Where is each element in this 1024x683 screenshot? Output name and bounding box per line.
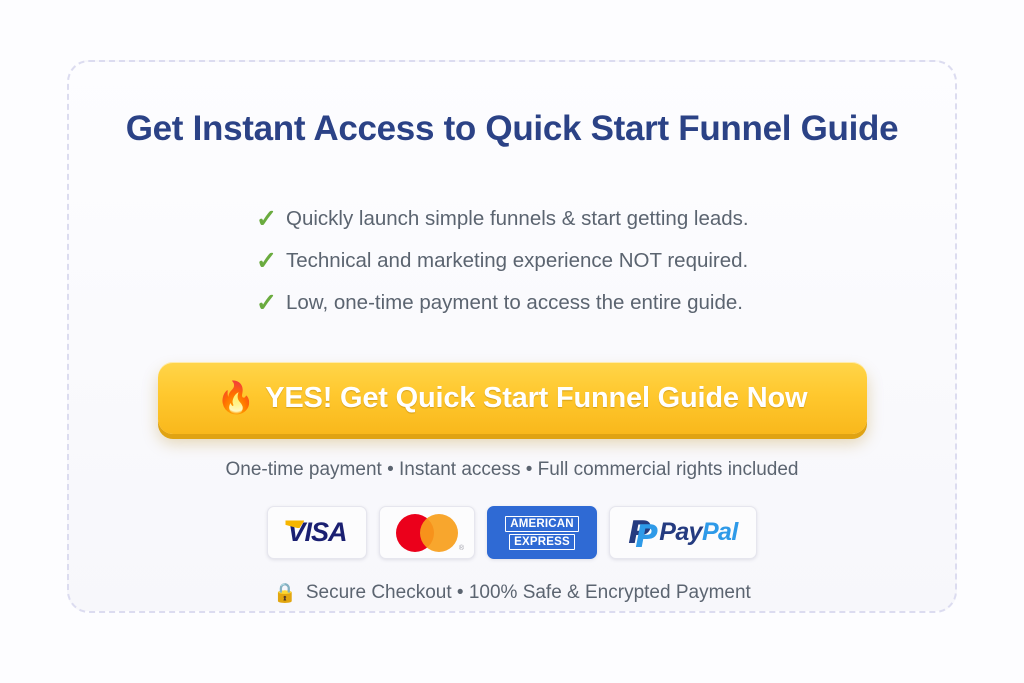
mastercard-logo-icon: ® [396,514,458,552]
benefit-text: Quickly launch simple funnels & start ge… [286,207,749,231]
benefit-text: Low, one-time payment to access the enti… [286,291,743,315]
paypal-word-pal: Pal [702,518,738,546]
paypal-wordmark: PayPal [659,518,737,547]
cta-wrapper: 🔥 YES! Get Quick Start Funnel Guide Now [158,362,867,434]
amex-line-2: EXPRESS [509,534,575,550]
lock-icon: 🔒 [273,584,297,603]
amex-logo-icon: AMERICAN EXPRESS [505,516,579,550]
list-item: ✓ Quickly launch simple funnels & start … [256,198,832,240]
purchase-terms-note: One-time payment • Instant access • Full… [226,459,799,481]
paypal-double-p-icon: P P [628,518,654,548]
list-item: ✓ Low, one-time payment to access the en… [256,282,832,324]
list-item: ✓ Technical and marketing experience NOT… [256,240,832,282]
paypal-p-front: P [635,522,658,552]
paypal-word-pay: Pay [659,518,702,546]
payment-badge-paypal: P P PayPal [609,506,757,559]
registered-mark: ® [459,545,464,552]
benefits-list: ✓ Quickly launch simple funnels & start … [192,198,832,324]
cta-get-guide-button[interactable]: 🔥 YES! Get Quick Start Funnel Guide Now [158,362,867,434]
offer-card: Get Instant Access to Quick Start Funnel… [67,60,957,613]
payment-badges: VISA ® AMERICAN EXPRESS P [267,506,757,559]
payment-badge-visa: VISA [267,506,367,559]
page-root: Get Instant Access to Quick Start Funnel… [0,0,1024,683]
benefit-text: Technical and marketing experience NOT r… [286,249,748,273]
amex-line-1: AMERICAN [505,516,579,532]
secure-checkout-text: Secure Checkout • 100% Safe & Encrypted … [306,582,751,604]
check-icon: ✓ [256,249,286,274]
check-icon: ✓ [256,207,286,232]
secure-checkout-note: 🔒 Secure Checkout • 100% Safe & Encrypte… [273,582,751,604]
check-icon: ✓ [256,291,286,316]
page-title: Get Instant Access to Quick Start Funnel… [126,109,899,149]
cta-button-label: YES! Get Quick Start Funnel Guide Now [265,382,807,415]
paypal-logo-icon: P P PayPal [628,518,737,548]
payment-badge-amex: AMERICAN EXPRESS [487,506,597,559]
payment-badge-mastercard: ® [379,506,475,559]
visa-logo-icon: VISA [287,517,346,548]
mastercard-orange-circle-icon [420,514,458,552]
fire-emoji: 🔥 [217,382,256,413]
